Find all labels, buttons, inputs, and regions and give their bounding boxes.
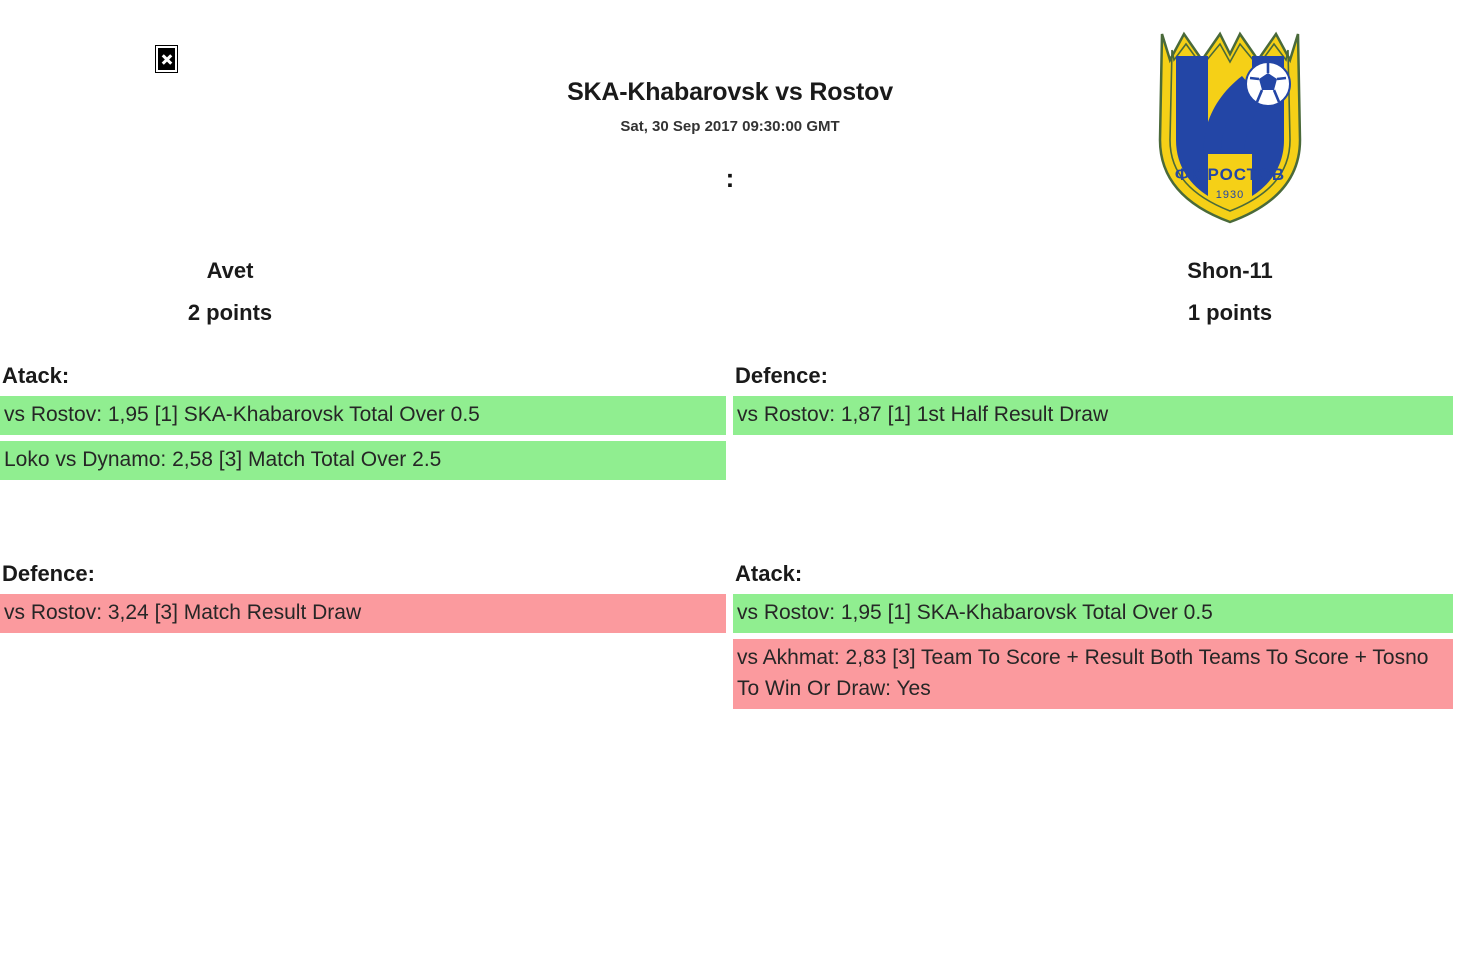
home-user-block: Avet 2 points — [110, 250, 350, 334]
bet-item[interactable]: vs Rostov: 1,87 [1] 1st Half Result Draw — [733, 396, 1453, 435]
bet-item[interactable]: vs Rostov: 1,95 [1] SKA-Khabarovsk Total… — [0, 396, 726, 435]
section-title: Defence: — [0, 548, 726, 594]
bets-row: Defence: vs Rostov: 3,24 [3] Match Resul… — [0, 548, 1460, 715]
score-separator: : — [724, 165, 737, 191]
bet-item[interactable]: Loko vs Dynamo: 2,58 [3] Match Total Ove… — [0, 441, 726, 480]
away-user-points: 1 points — [1110, 292, 1350, 334]
bets-grid: Atack: vs Rostov: 1,95 [1] SKA-Khabarovs… — [0, 350, 1460, 715]
section-title: Atack: — [0, 350, 726, 396]
match-stats-page: SKA-Khabarovsk vs Rostov Sat, 30 Sep 201… — [0, 0, 1460, 959]
home-user-name: Avet — [207, 258, 254, 283]
away-user-name: Shon-11 — [1187, 258, 1273, 283]
broken-image-x-glyph — [158, 48, 175, 70]
match-header: SKA-Khabarovsk vs Rostov Sat, 30 Sep 201… — [0, 0, 1460, 350]
section-spacer — [0, 486, 1460, 548]
bet-item[interactable]: vs Rostov: 3,24 [3] Match Result Draw — [0, 594, 726, 633]
section-title: Atack: — [733, 548, 1453, 594]
bet-item[interactable]: vs Akhmat: 2,83 [3] Team To Score + Resu… — [733, 639, 1453, 709]
bets-column-right: Defence: vs Rostov: 1,87 [1] 1st Half Re… — [730, 350, 1460, 486]
crest-club-name: ФК РОСТОВ — [1175, 165, 1285, 184]
bets-column-right: Atack: vs Rostov: 1,95 [1] SKA-Khabarovs… — [730, 548, 1460, 715]
bet-item[interactable]: vs Rostov: 1,95 [1] SKA-Khabarovsk Total… — [733, 594, 1453, 633]
home-user-points: 2 points — [110, 292, 350, 334]
fc-rostov-crest-icon: ФК РОСТОВ 1930 — [1124, 20, 1336, 232]
section-title: Defence: — [733, 350, 1453, 396]
bets-row: Atack: vs Rostov: 1,95 [1] SKA-Khabarovs… — [0, 350, 1460, 486]
crest-year: 1930 — [1216, 189, 1244, 201]
bets-column-left: Atack: vs Rostov: 1,95 [1] SKA-Khabarovs… — [0, 350, 730, 486]
away-user-block: Shon-11 1 points — [1110, 250, 1350, 334]
bets-column-left: Defence: vs Rostov: 3,24 [3] Match Resul… — [0, 548, 730, 715]
broken-image-icon — [155, 45, 178, 73]
